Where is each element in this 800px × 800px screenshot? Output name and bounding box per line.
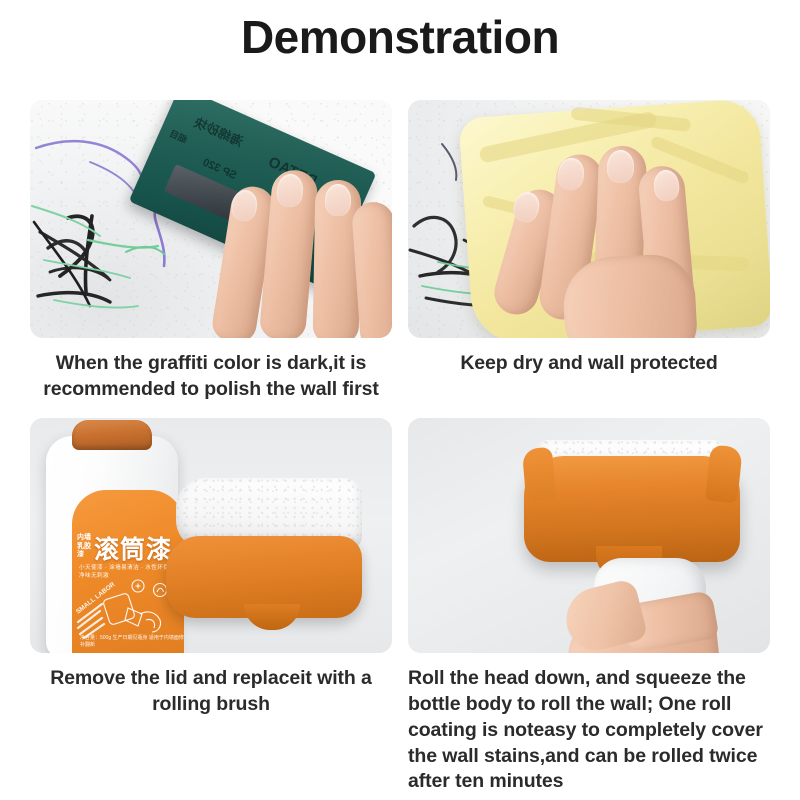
hand-wiping	[504, 136, 718, 338]
hand-holding-sponge	[204, 150, 392, 338]
grid-row-bottom: 内墙乳胶漆 滚筒漆 小天使漆 · 涂墙易清洁 · 水性环保漆 · 净味无刺激	[30, 418, 770, 795]
roller-end-cap-left	[522, 447, 556, 501]
page-title: Demonstration	[0, 0, 800, 60]
photo-wipe-dry	[408, 100, 770, 338]
caption-replace-lid: Remove the lid and replaceit with a roll…	[30, 666, 392, 717]
roller-end-cap-right	[705, 445, 743, 504]
label-footer-text: 净含量：500g 生产日期见瓶身 适用于内墙面修补翻新	[80, 635, 184, 649]
photo-replace-lid: 内墙乳胶漆 滚筒漆 小天使漆 · 涂墙易清洁 · 水性环保漆 · 净味无刺激	[30, 418, 392, 653]
label-side-text: 内墙乳胶漆	[77, 534, 91, 558]
label-title: 滚筒漆	[94, 530, 172, 566]
panel-replace-lid: 内墙乳胶漆 滚筒漆 小天使漆 · 涂墙易清洁 · 水性环保漆 · 净味无刺激	[30, 418, 392, 795]
grid-row-top: DETAO 海绵砂块 SP 320 打磨块 细目	[30, 100, 770, 402]
demonstration-page: Demonstration	[0, 0, 800, 800]
panel-wipe-dry: Keep dry and wall protected	[408, 100, 770, 402]
photo-polish-wall: DETAO 海绵砂块 SP 320 打磨块 细目	[30, 100, 392, 338]
caption-roll-wall: Roll the head down, and squeeze the bott…	[408, 666, 770, 795]
caption-wipe-dry: Keep dry and wall protected	[408, 351, 770, 377]
paint-bottle: 内墙乳胶漆 滚筒漆 小天使漆 · 涂墙易清洁 · 水性环保漆 · 净味无刺激	[46, 436, 178, 653]
caption-polish-wall: When the graffiti color is dark,it is re…	[30, 351, 392, 402]
bottle-cap	[72, 420, 152, 450]
label-illustration: SMALL LABOR	[76, 574, 180, 640]
panel-roll-wall: Roll the head down, and squeeze the bott…	[408, 418, 770, 795]
demonstration-grid: DETAO 海绵砂块 SP 320 打磨块 细目	[30, 100, 770, 795]
panel-polish-wall: DETAO 海绵砂块 SP 320 打磨块 细目	[30, 100, 392, 402]
photo-roll-wall	[408, 418, 770, 653]
